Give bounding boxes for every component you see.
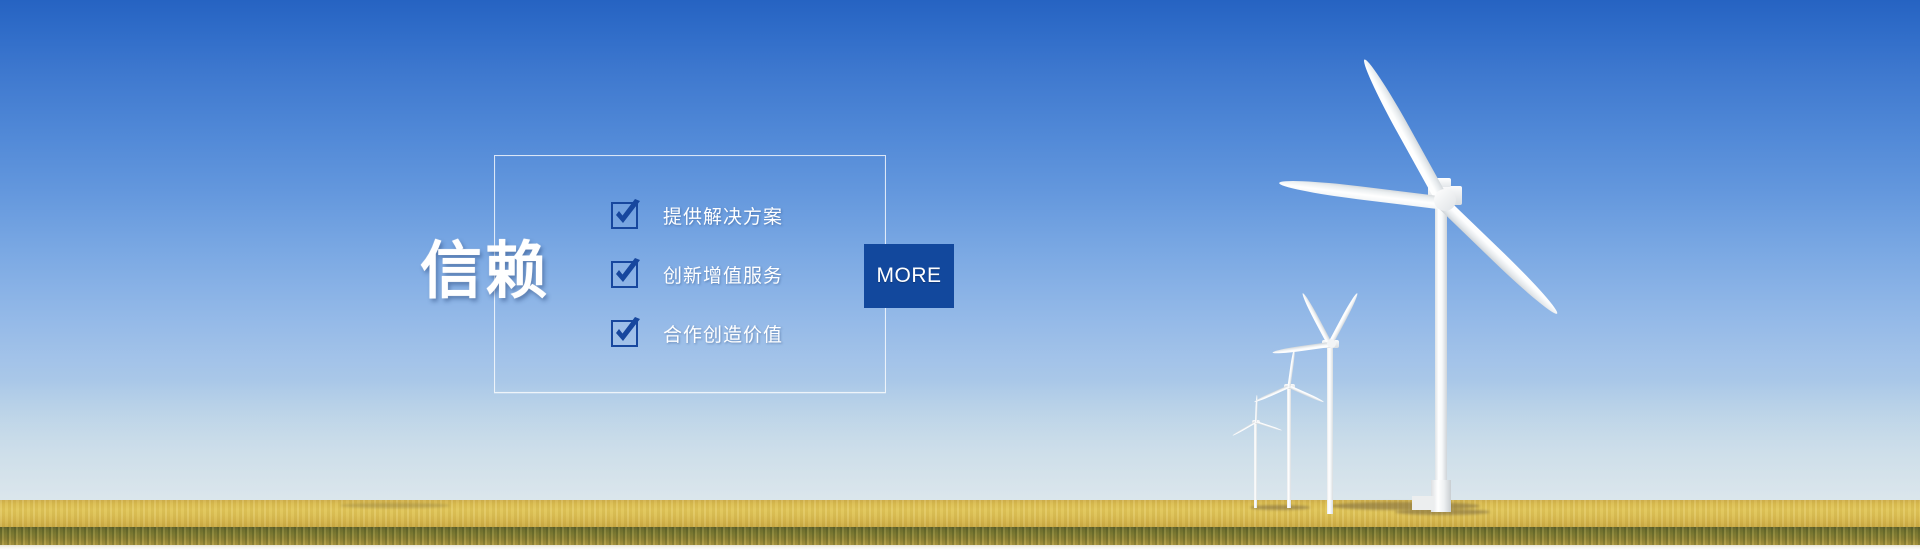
turbine-hub <box>1327 339 1336 348</box>
page-title: 信赖 <box>420 240 550 302</box>
list-item-label: 合作创造价值 <box>663 320 783 347</box>
turbine-base-pad <box>1412 496 1434 510</box>
feature-checklist: 提供解决方案 创新增值服务 合作创造价值 <box>611 200 783 348</box>
bottom-edge-band <box>0 545 1920 550</box>
dirt-patch <box>340 503 450 508</box>
horizon-haze <box>0 380 1920 501</box>
grass-strip <box>0 527 1920 545</box>
wheat-field-texture <box>0 500 1920 528</box>
grass-texture <box>0 527 1920 545</box>
turbine-mast-base <box>1431 480 1451 512</box>
wheat-field <box>0 500 1920 528</box>
checkbox-checked-icon[interactable] <box>611 202 638 229</box>
turbine-mast <box>1435 200 1447 510</box>
list-item: 提供解决方案 <box>611 200 783 230</box>
list-item-label: 提供解决方案 <box>663 202 783 229</box>
list-item: 合作创造价值 <box>611 318 783 348</box>
hero-banner: 信赖 提供解决方案 创新增值服务 合 <box>0 0 1920 550</box>
turbine-hub <box>1434 189 1456 211</box>
dirt-patch <box>1250 505 1310 510</box>
list-item: 创新增值服务 <box>611 259 783 289</box>
turbine-mast <box>1327 346 1333 514</box>
turbine-mast <box>1287 388 1291 508</box>
list-item-label: 创新增值服务 <box>663 261 783 288</box>
turbine-mast <box>1254 423 1257 508</box>
checkbox-checked-icon[interactable] <box>611 320 638 347</box>
more-button[interactable]: MORE <box>864 244 954 308</box>
checkbox-checked-icon[interactable] <box>611 261 638 288</box>
